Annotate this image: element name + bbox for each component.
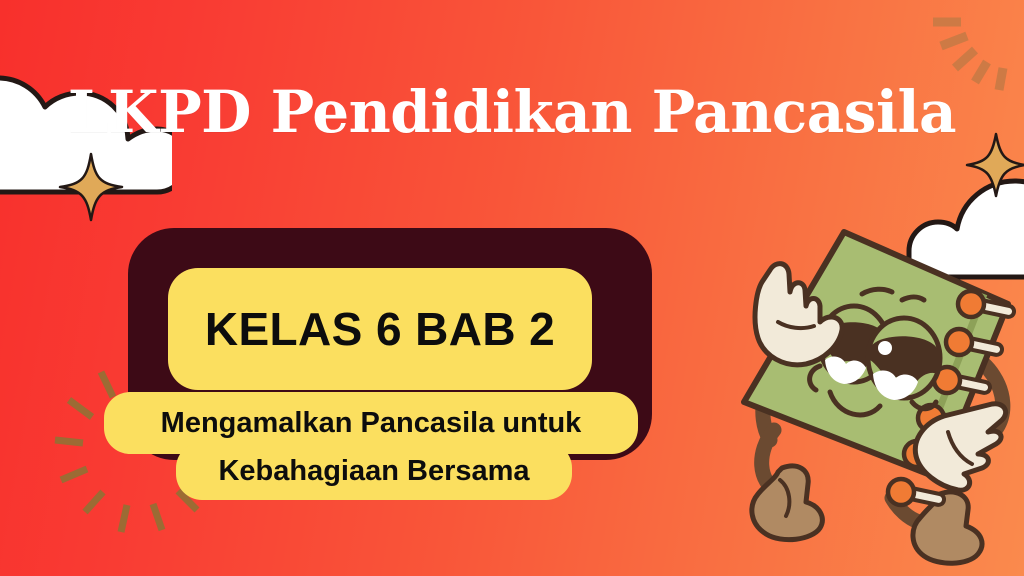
notebook-mascot-icon	[726, 226, 1024, 566]
subtitle-line-2: Kebahagiaan Bersama	[176, 442, 572, 500]
page-title: LKPD Pendidikan Pancasila	[0, 78, 1024, 146]
badge-label: KELAS 6 BAB 2	[168, 268, 592, 390]
poster-canvas: LKPD Pendidikan Pancasila KELAS 6 BAB 2 …	[0, 0, 1024, 576]
sparkle-icon-left	[58, 152, 124, 222]
mascot-eye-right	[868, 318, 940, 400]
